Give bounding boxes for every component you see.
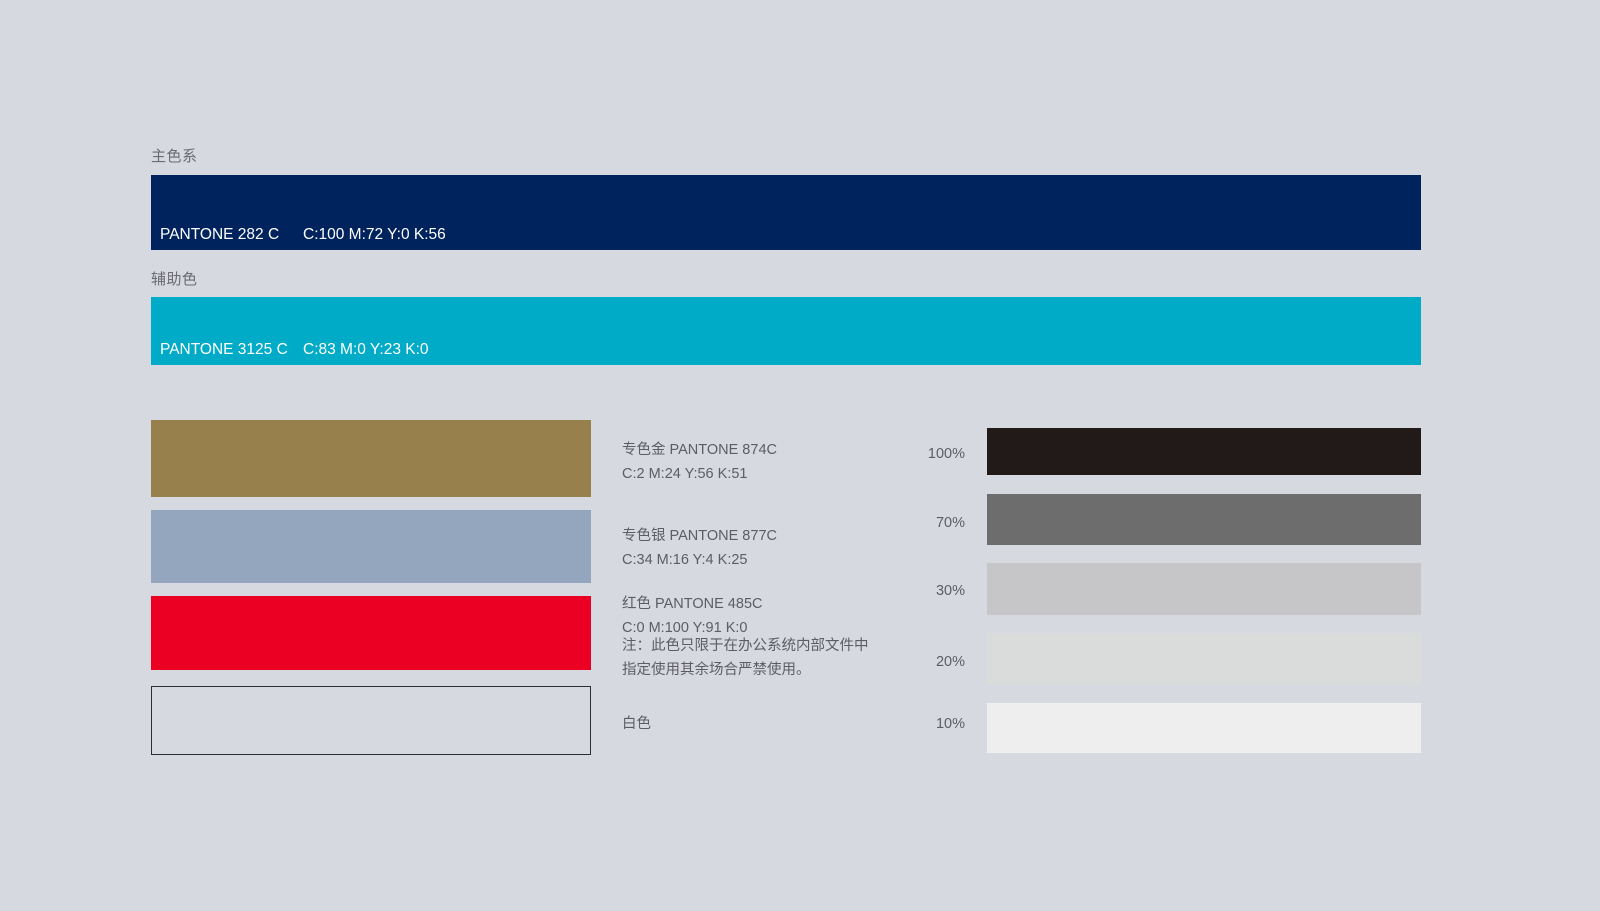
- primary-cmyk-values: C:100 M:72 Y:0 K:56: [303, 227, 446, 243]
- tint-percent-label: 30%: [905, 584, 965, 599]
- secondary-color-caption: PANTONE 3125 C C:83 M:0 Y:23 K:0: [160, 342, 429, 358]
- red-usage-note-line-2: 指定使用其余场合严禁使用。: [622, 663, 869, 678]
- silver-cmyk-values: C:34 M:16 Y:4 K:25: [622, 553, 777, 568]
- spot-color-swatch-silver: [151, 510, 591, 583]
- tint-swatch: [987, 428, 1421, 475]
- tint-percent-label: 70%: [905, 516, 965, 531]
- spot-color-swatch-red: [151, 596, 591, 670]
- red-usage-note-line-1: 注：此色只限于在办公系统内部文件中: [622, 639, 869, 654]
- tint-swatch: [987, 633, 1421, 685]
- spot-color-description-gold: 专色金 PANTONE 874C C:2 M:24 Y:56 K:51: [622, 443, 777, 481]
- gold-cmyk-values: C:2 M:24 Y:56 K:51: [622, 467, 777, 482]
- spot-color-description-silver: 专色银 PANTONE 877C C:34 M:16 Y:4 K:25: [622, 529, 777, 567]
- red-cmyk-values: C:0 M:100 Y:91 K:0: [622, 621, 869, 636]
- tint-swatch: [987, 494, 1421, 545]
- secondary-cmyk-values: C:83 M:0 Y:23 K:0: [303, 342, 429, 358]
- spot-color-description-white: 白色: [622, 717, 651, 732]
- primary-pantone-code: PANTONE 282 C: [160, 227, 303, 243]
- primary-color-caption: PANTONE 282 C C:100 M:72 Y:0 K:56: [160, 227, 446, 243]
- tint-swatch: [987, 703, 1421, 753]
- primary-color-heading: 主色系: [151, 149, 198, 164]
- tint-percent-label: 10%: [905, 717, 965, 732]
- white-title: 白色: [622, 717, 651, 732]
- secondary-color-swatch: PANTONE 3125 C C:83 M:0 Y:23 K:0: [151, 297, 1421, 365]
- secondary-color-heading: 辅助色: [151, 272, 198, 287]
- tint-percent-label: 100%: [905, 447, 965, 462]
- gold-title: 专色金 PANTONE 874C: [622, 443, 777, 458]
- silver-title: 专色银 PANTONE 877C: [622, 529, 777, 544]
- color-palette-board: 主色系 PANTONE 282 C C:100 M:72 Y:0 K:56 辅助…: [0, 0, 1600, 911]
- spot-color-swatch-white: [151, 686, 591, 755]
- spot-color-swatch-gold: [151, 420, 591, 497]
- secondary-pantone-code: PANTONE 3125 C: [160, 342, 303, 358]
- red-title: 红色 PANTONE 485C: [622, 597, 869, 612]
- tint-percent-label: 20%: [905, 655, 965, 670]
- tint-swatch: [987, 563, 1421, 615]
- primary-color-swatch: PANTONE 282 C C:100 M:72 Y:0 K:56: [151, 175, 1421, 250]
- spot-color-description-red: 红色 PANTONE 485C C:0 M:100 Y:91 K:0 注：此色只…: [622, 597, 869, 677]
